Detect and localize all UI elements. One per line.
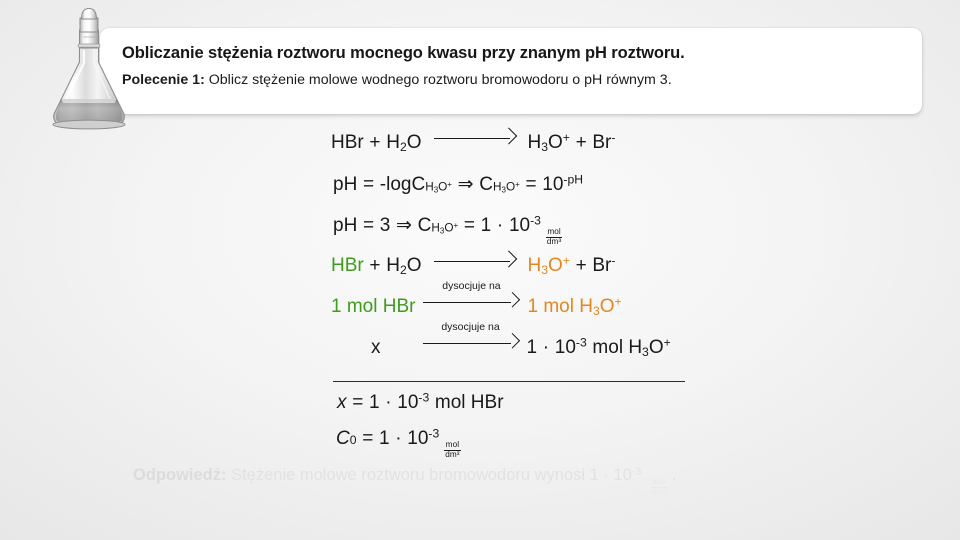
eq3-dot: · [497, 215, 503, 237]
flask-base [53, 120, 125, 129]
eq3-equals-2: = [464, 215, 475, 237]
reaction-arrow-icon [434, 132, 516, 144]
header-card: Obliczanie stężenia roztworu mocnego kwa… [100, 28, 922, 114]
result2-c: C [336, 428, 350, 450]
eq3-ph: pH [333, 215, 357, 237]
eq1-plus-2: + [576, 132, 587, 154]
result2-one: 1 [379, 428, 390, 450]
answer-unit-mol-per-dm3: mol dm³ [651, 478, 667, 496]
answer-period: . [672, 466, 677, 484]
eq2-ph: pH [333, 174, 357, 196]
dissociation-arrow-icon: dysocjuje na [423, 337, 519, 349]
eq3-equals-1: = [363, 215, 374, 237]
flask-meniscus [62, 99, 117, 103]
reaction-arrow-icon [434, 255, 516, 267]
result1-equals: = [352, 392, 363, 414]
eq4-water: H2O [386, 255, 421, 277]
result1-x: x [337, 392, 347, 414]
eq3-power: 10-3 [509, 215, 541, 237]
eq4-bromide: Br- [592, 255, 615, 277]
equation-result-2: C0 = 1 · 10-3 mol dm³ [0, 422, 960, 463]
eq2-equals-1: = [363, 174, 374, 196]
flask-stopper-shaft [80, 18, 98, 32]
equation-result-1: x = 1 · 10-3 mol HBr [0, 378, 960, 422]
result1-dot: · [385, 392, 391, 414]
answer-label: Odpowiedź: [133, 466, 227, 484]
equation-line-3: pH = 3 ⇒ CH3O+ = 1 · 10-3 mol dm³ [0, 214, 960, 255]
task-line: Polecenie 1: Oblicz stężenie molowe wodn… [122, 72, 906, 88]
flask-icon [44, 6, 148, 136]
eq2-neglog-c: -logC [380, 174, 425, 196]
result1-one: 1 [369, 392, 380, 414]
answer-line: Odpowiedź: Stężenie molowe roztworu brom… [133, 466, 676, 493]
dissociation-arrow-label: dysocjuje na [425, 280, 517, 292]
eq5-right-amount: 1 mol H3O+ [527, 296, 621, 318]
eq3-unit-mol-per-dm3: mol dm³ [546, 228, 562, 246]
eq1-plus-1: + [369, 132, 380, 154]
result1-tail: mol HBr [435, 392, 504, 414]
result1-power: 10-3 [397, 392, 429, 414]
result2-dot: · [395, 428, 401, 450]
eq4-hbr: HBr [331, 255, 364, 277]
eq6-mol-hydronium: mol H3O+ [592, 337, 670, 359]
equation-line-6: x dysocjuje na 1 · 10-3 mol H3O+ [0, 337, 960, 378]
eq2-subscript-h3o-2: H3O+ [493, 185, 520, 190]
eq2-power: 10-pH [542, 174, 583, 196]
eq6-power: 10-3 [555, 337, 587, 359]
result2-unit-mol-per-dm3: mol dm³ [444, 441, 460, 459]
dissociation-arrow-label: dysocjuje na [425, 321, 517, 333]
eq3-subscript-h3o: H3O+ [431, 226, 458, 231]
eq6-unknown: x [371, 337, 381, 359]
flask-neck-ring [78, 44, 100, 47]
eq1-water: H2O [386, 132, 421, 154]
equation-line-1: HBr + H2O H3O+ + Br- [0, 132, 960, 173]
eq2-subscript-h3o: H3O+ [425, 185, 452, 190]
eq1-hydronium: H3O+ [528, 132, 570, 154]
equation-line-2: pH = -logCH3O+ ⇒ CH3O+ = 10-pH [0, 173, 960, 214]
eq4-plus-1: + [369, 255, 380, 277]
eq6-one: 1 [527, 337, 538, 359]
result2-equals: = [362, 428, 373, 450]
eq3-one: 1 [481, 215, 492, 237]
flask-stopper-cap [82, 9, 97, 20]
eq4-plus-2: + [576, 255, 587, 277]
eq6-dot: · [543, 337, 549, 359]
task-text: Oblicz stężenie molowe wodnego roztworu … [205, 72, 672, 88]
result2-power: 10-3 [407, 428, 439, 450]
eq2-implies: ⇒ [458, 173, 474, 196]
eq5-left-amount: 1 mol HBr [331, 296, 415, 318]
answer-text: Stężenie molowe roztworu bromowodoru wyn… [227, 466, 632, 484]
eq3-implies: ⇒ [396, 214, 412, 237]
eq1-bromide: Br- [592, 132, 615, 154]
flask-illustration [44, 6, 148, 136]
eq2-equals-2: = [525, 174, 536, 196]
equation-stack: HBr + H2O H3O+ + Br- pH = -logCH3O+ ⇒ CH… [0, 132, 960, 463]
dissociation-arrow-icon: dysocjuje na [423, 296, 519, 308]
result-divider [333, 381, 685, 382]
answer-exponent: -3 [632, 466, 641, 478]
header-text-block: Obliczanie stężenia roztworu mocnego kwa… [122, 44, 906, 88]
eq3-c: C [418, 215, 432, 237]
eq1-hbr: HBr [331, 132, 364, 154]
eq3-ph-value: 3 [380, 215, 391, 237]
page-title: Obliczanie stężenia roztworu mocnego kwa… [122, 44, 906, 63]
slide-canvas: Obliczanie stężenia roztworu mocnego kwa… [0, 0, 960, 540]
eq2-c: C [479, 174, 493, 196]
eq4-hydronium: H3O+ [528, 255, 570, 277]
